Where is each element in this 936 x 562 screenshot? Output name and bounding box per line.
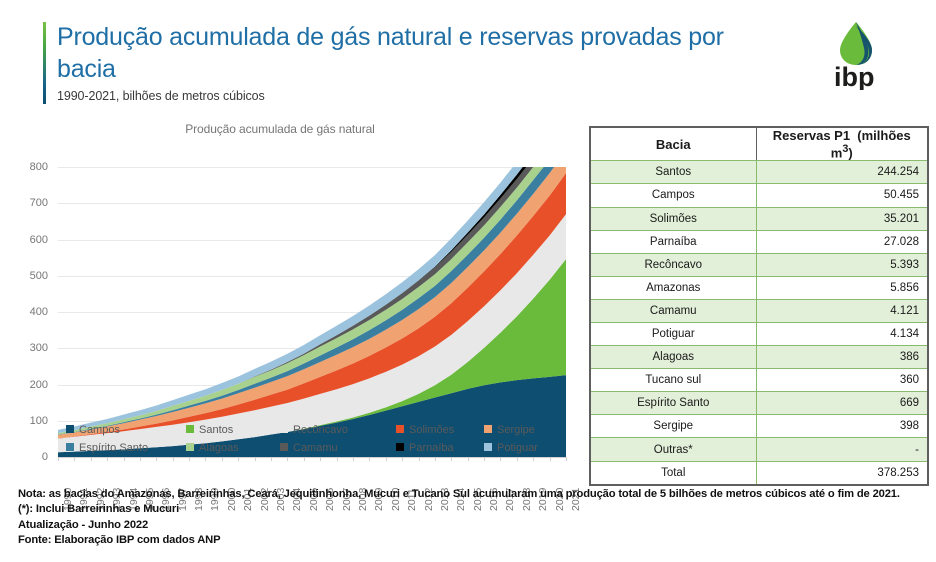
cell-bacia: Camamu — [590, 299, 756, 322]
table-row: Recôncavo5.393 — [590, 253, 928, 276]
cell-reserva: 669 — [756, 392, 928, 415]
y-tick-200: 200 — [30, 379, 48, 391]
cell-bacia: Espírito Santo — [590, 392, 756, 415]
legend-label: Alagoas — [199, 442, 239, 454]
footnote-line-1: Nota: as bacias do Amazonas, Barreirinha… — [18, 487, 924, 502]
legend-swatch-icon — [484, 443, 492, 451]
footnote-line-2: (*): Inclui Barreirinhas e Mucuri — [18, 502, 924, 517]
legend-swatch-icon — [66, 425, 74, 433]
page-title: Produção acumulada de gás natural e rese… — [57, 21, 787, 85]
cell-reserva: 378.253 — [756, 461, 928, 485]
cell-reserva: 27.028 — [756, 230, 928, 253]
y-tick-400: 400 — [30, 306, 48, 318]
y-tick-0: 0 — [42, 451, 48, 463]
y-tick-600: 600 — [30, 234, 48, 246]
table-row-total: Total378.253 — [590, 461, 928, 485]
cell-bacia: Solimões — [590, 207, 756, 230]
page-subtitle: 1990-2021, bilhões de metros cúbicos — [57, 89, 265, 103]
title-accent-bar — [43, 22, 46, 104]
legend-item-camamu[interactable]: Camamu — [280, 442, 338, 454]
legend-item-alagoas[interactable]: Alagoas — [186, 442, 239, 454]
legend-item-campos[interactable]: Campos — [66, 424, 120, 436]
cell-bacia: Campos — [590, 184, 756, 207]
cell-reserva: 360 — [756, 369, 928, 392]
footnote-line-4: Fonte: Elaboração IBP com dados ANP — [18, 533, 924, 548]
y-tick-500: 500 — [30, 270, 48, 282]
legend-item-espírito-santo[interactable]: Espírito Santo — [66, 442, 148, 454]
legend-label: Solimões — [409, 424, 454, 436]
page-header: Produção acumulada de gás natural e rese… — [0, 0, 936, 112]
column-header-bacia: Bacia — [590, 127, 756, 161]
table-row: Parnaíba27.028 — [590, 230, 928, 253]
table-row: Alagoas386 — [590, 346, 928, 369]
reservas-p1-table: Bacia Reservas P1 (milhões m3) Santos244… — [589, 126, 929, 486]
legend-swatch-icon — [186, 425, 194, 433]
cell-reserva: 398 — [756, 415, 928, 438]
table-row: Solimões35.201 — [590, 207, 928, 230]
legend-swatch-icon — [280, 443, 288, 451]
cell-reserva: 50.455 — [756, 184, 928, 207]
table-row: Sergipe398 — [590, 415, 928, 438]
legend-label: Santos — [199, 424, 233, 436]
cell-reserva: - — [756, 438, 928, 461]
legend-item-recôncavo[interactable]: Recôncavo — [280, 424, 348, 436]
cell-bacia: Potiguar — [590, 322, 756, 345]
cell-reserva: 4.134 — [756, 322, 928, 345]
legend-label: Sergipe — [497, 424, 535, 436]
x-tick-1990 — [58, 457, 59, 461]
cell-bacia: Parnaíba — [590, 230, 756, 253]
legend-item-santos[interactable]: Santos — [186, 424, 233, 436]
y-tick-800: 800 — [30, 161, 48, 173]
legend-swatch-icon — [396, 443, 404, 451]
table-row: Camamu4.121 — [590, 299, 928, 322]
cell-reserva: 386 — [756, 346, 928, 369]
legend-item-solimões[interactable]: Solimões — [396, 424, 454, 436]
cell-bacia: Sergipe — [590, 415, 756, 438]
chart-legend: CamposSantosRecôncavoSolimõesSergipeEspí… — [66, 424, 576, 464]
chart-plot-area — [58, 167, 566, 457]
table-row: Santos244.254 — [590, 161, 928, 184]
legend-label: Espírito Santo — [79, 442, 148, 454]
cell-bacia: Outras* — [590, 438, 756, 461]
legend-item-parnaíba[interactable]: Parnaíba — [396, 442, 454, 454]
cell-reserva: 5.856 — [756, 276, 928, 299]
legend-swatch-icon — [66, 443, 74, 451]
y-tick-300: 300 — [30, 342, 48, 354]
ibp-logo: ibp — [826, 18, 906, 90]
column-header-reservas: Reservas P1 (milhões m3) — [756, 127, 928, 161]
cell-bacia: Tucano sul — [590, 369, 756, 392]
chart-title: Produção acumulada de gás natural — [0, 122, 560, 136]
stacked-area-chart: Produção acumulada de gás natural 010020… — [0, 118, 580, 468]
legend-swatch-icon — [396, 425, 404, 433]
table-row: Campos50.455 — [590, 184, 928, 207]
legend-swatch-icon — [484, 425, 492, 433]
table-row: Espírito Santo669 — [590, 392, 928, 415]
cell-reserva: 4.121 — [756, 299, 928, 322]
legend-label: Potiguar — [497, 442, 538, 454]
y-tick-100: 100 — [30, 415, 48, 427]
legend-item-potiguar[interactable]: Potiguar — [484, 442, 538, 454]
cell-bacia: Total — [590, 461, 756, 485]
table-row: Outras*- — [590, 438, 928, 461]
cell-bacia: Alagoas — [590, 346, 756, 369]
cell-reserva: 35.201 — [756, 207, 928, 230]
cell-reserva: 5.393 — [756, 253, 928, 276]
reservas-table-wrapper: Bacia Reservas P1 (milhões m3) Santos244… — [589, 126, 927, 473]
legend-label: Parnaíba — [409, 442, 454, 454]
y-axis-labels: 0100200300400500600700800 — [0, 118, 52, 458]
footnotes: Nota: as bacias do Amazonas, Barreirinha… — [18, 487, 924, 549]
svg-text:ibp: ibp — [834, 62, 875, 90]
table-header-row: Bacia Reservas P1 (milhões m3) — [590, 127, 928, 161]
cell-bacia: Amazonas — [590, 276, 756, 299]
legend-label: Camamu — [293, 442, 338, 454]
cell-reserva: 244.254 — [756, 161, 928, 184]
cell-bacia: Recôncavo — [590, 253, 756, 276]
y-tick-700: 700 — [30, 197, 48, 209]
cell-bacia: Santos — [590, 161, 756, 184]
legend-item-sergipe[interactable]: Sergipe — [484, 424, 535, 436]
legend-label: Recôncavo — [293, 424, 348, 436]
footnote-line-3: Atualização - Junho 2022 — [18, 518, 924, 533]
table-row: Amazonas5.856 — [590, 276, 928, 299]
legend-swatch-icon — [280, 425, 288, 433]
table-row: Potiguar4.134 — [590, 322, 928, 345]
legend-swatch-icon — [186, 443, 194, 451]
legend-label: Campos — [79, 424, 120, 436]
table-row: Tucano sul360 — [590, 369, 928, 392]
